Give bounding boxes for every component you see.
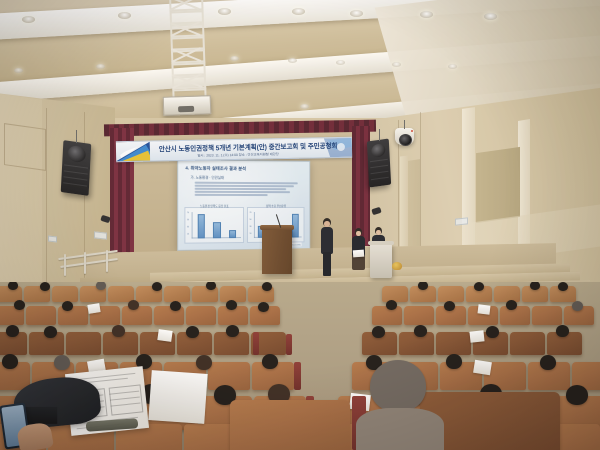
chart-ytick: 70 <box>187 212 189 214</box>
wooden-lectern <box>262 228 292 274</box>
chart-ytick: 50 <box>249 219 251 221</box>
audience-shoulders <box>356 408 444 450</box>
speaker-hanger <box>379 129 380 141</box>
recessed-downlight-icon <box>350 10 363 17</box>
camera-lens-icon <box>399 134 412 146</box>
panelist-seated-left <box>352 228 365 266</box>
printed-handout <box>148 370 207 424</box>
slide-title: 4. 취약노동자 실태조사 결과 분석 <box>185 165 246 172</box>
auditorium-photo: 4. 취약노동자 실태조사 결과 분석 가. 노동환경 · 인권실태 노동환경 … <box>0 0 600 450</box>
stage-railing <box>58 250 126 280</box>
camera-mount <box>404 120 405 129</box>
chart-ytick: 30 <box>249 226 251 228</box>
audience-head <box>370 360 426 412</box>
lectern-top <box>368 241 394 245</box>
recessed-downlight-icon <box>420 11 433 18</box>
recessed-downlight-icon <box>288 58 297 63</box>
foreground-seat <box>230 400 350 450</box>
chart-ytick: 10 <box>249 233 251 235</box>
camera-led-icon <box>411 130 413 132</box>
recessed-downlight-icon <box>230 56 239 61</box>
chart-ytick: 10 <box>187 233 189 235</box>
slide-body-text <box>195 182 298 198</box>
recessed-downlight-icon <box>118 12 131 19</box>
speaker-hanger <box>76 130 77 143</box>
ceiling-projector <box>163 95 212 116</box>
ceiling-ptz-camera <box>395 128 414 145</box>
chart-y-axis <box>192 212 193 238</box>
wall-panel-dark <box>476 147 520 223</box>
recessed-downlight-icon <box>292 8 305 15</box>
chart-ytick: 30 <box>187 226 189 228</box>
recessed-downlight-icon <box>14 68 23 73</box>
recessed-downlight-icon <box>300 104 309 109</box>
city-emblem-swoosh-logo <box>116 142 150 162</box>
bar <box>198 214 206 238</box>
line-array-speaker-left <box>61 140 92 196</box>
wall-seam <box>46 108 47 288</box>
chart-left-title: 노동환경 만족도 응답 분포 <box>185 203 243 207</box>
presenter-standing <box>320 218 334 276</box>
white-lectern <box>370 244 392 278</box>
lectern-top <box>260 225 294 230</box>
ceiling-projector-scissor-lift <box>166 0 206 109</box>
recessed-downlight-icon <box>22 16 35 23</box>
left-wall-recess <box>4 123 46 171</box>
flower-arrangement <box>392 262 402 270</box>
wall-sign <box>48 236 57 243</box>
wall-sign <box>94 231 107 239</box>
bar <box>229 230 236 238</box>
recessed-downlight-icon <box>392 62 401 67</box>
chart-left-bars <box>194 213 240 238</box>
chart-ytick: 50 <box>187 219 189 221</box>
recessed-downlight-icon <box>336 60 345 65</box>
slide-subtitle: 가. 노동환경 · 인권실태 <box>191 175 224 180</box>
chart-y-axis <box>254 212 255 238</box>
recessed-downlight-icon <box>484 13 497 20</box>
bar <box>213 222 221 239</box>
line-array-speaker-right <box>367 138 391 187</box>
projector-lens-icon <box>178 106 194 113</box>
chart-right-title: 정책 수요 우선순위 <box>248 204 304 208</box>
chart-ytick: 70 <box>249 212 251 214</box>
recessed-downlight-icon <box>448 64 457 69</box>
slide-chart-left: 노동환경 만족도 응답 분포 70 50 30 10 <box>184 207 244 244</box>
recessed-downlight-icon <box>96 64 105 69</box>
wall-sign <box>455 217 468 225</box>
recessed-downlight-icon <box>218 8 231 15</box>
